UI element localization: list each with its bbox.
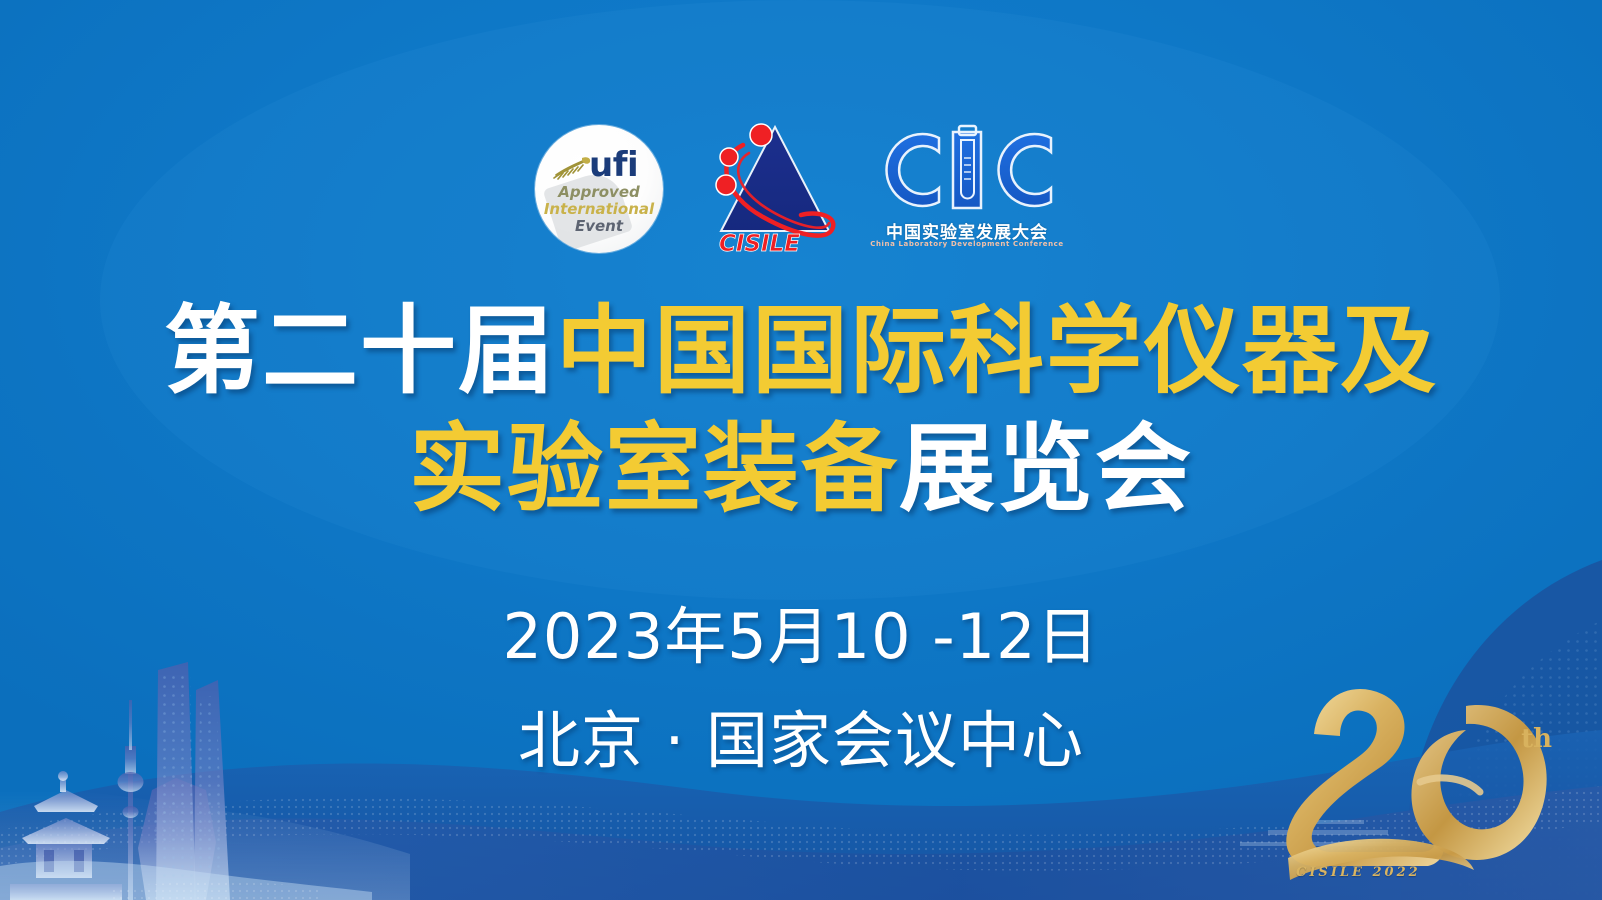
anniversary-caption: CISILE 2022 bbox=[1296, 865, 1421, 880]
page-title: 第二十届中国国际科学仪器及 实验室装备展览会 bbox=[0, 292, 1602, 528]
ufi-wordmark: ufi bbox=[589, 148, 638, 182]
cic-letter-c-right bbox=[999, 134, 1051, 206]
anniversary-emblem: th CISILE 2022 bbox=[1270, 662, 1560, 892]
cisile-wordmark: CISILE bbox=[719, 231, 800, 257]
headline-edition: 第二十届 bbox=[164, 295, 556, 407]
cic-logo: 中国实验室发展大会 China Laboratory Development C… bbox=[867, 118, 1067, 260]
poster-canvas: ufi Approved International Event bbox=[0, 0, 1602, 900]
headline-part-2: 实验室装备 bbox=[409, 413, 899, 525]
anniversary-ordinal: th bbox=[1521, 724, 1552, 754]
ufi-line-event: Event bbox=[535, 217, 663, 235]
ufi-logo: ufi Approved International Event bbox=[535, 125, 663, 253]
cic-letter-c-left bbox=[887, 134, 939, 206]
cic-subtitle-en: China Laboratory Development Conference bbox=[867, 240, 1067, 248]
ufi-line-international: International bbox=[535, 200, 663, 218]
cic-mark bbox=[867, 118, 1067, 222]
ufi-wheat-icon bbox=[552, 156, 592, 182]
headline-part-1: 中国国际科学仪器及 bbox=[556, 295, 1438, 407]
cic-test-tube-icon bbox=[953, 126, 981, 208]
headline-line-2: 实验室装备展览会 bbox=[0, 410, 1602, 528]
headline-line-1: 第二十届中国国际科学仪器及 bbox=[0, 292, 1602, 410]
logo-row: ufi Approved International Event bbox=[0, 118, 1602, 260]
cisile-logo: CISILE bbox=[689, 119, 841, 259]
headline-part-3: 展览会 bbox=[899, 413, 1193, 525]
ufi-line-approved: Approved bbox=[535, 183, 663, 201]
